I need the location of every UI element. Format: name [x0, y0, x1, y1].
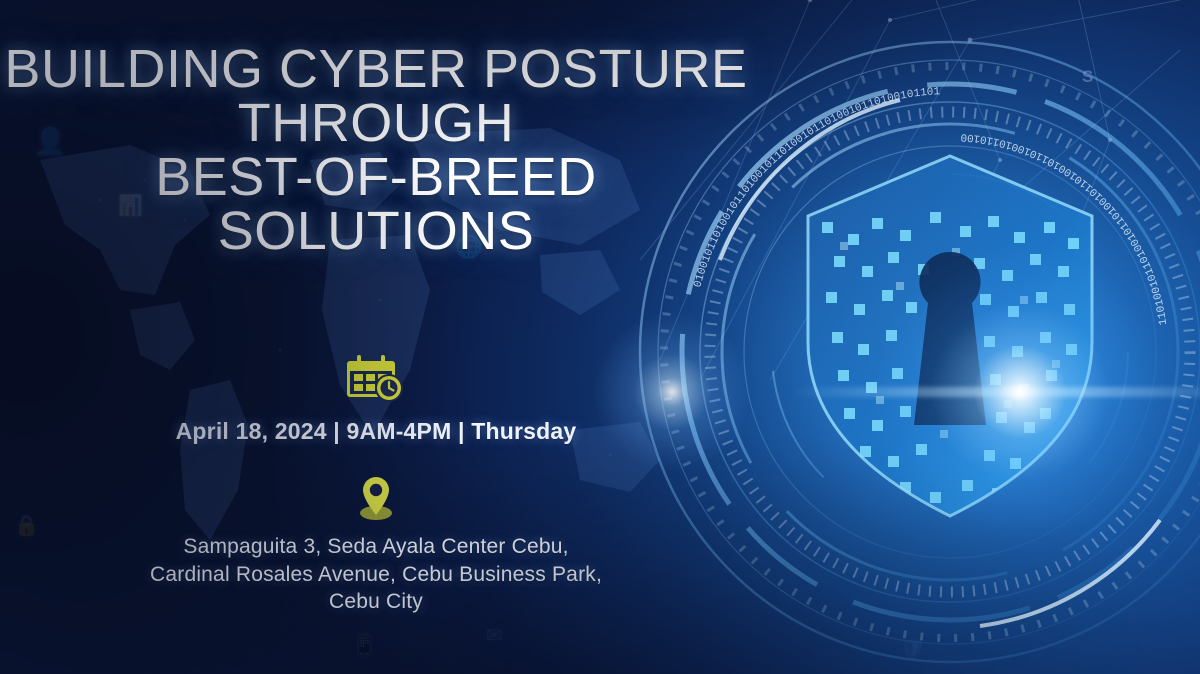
map-pin-icon: [0, 473, 752, 521]
event-banner: 👤 📊 🌐 🔒 📱 ✉ 🛡 E S: [0, 0, 1200, 674]
event-details: April 18, 2024 | 9AM-4PM | Thursday Samp…: [0, 352, 752, 616]
calendar-clock-icon: [0, 352, 752, 404]
page-title: BUILDING CYBER POSTURE THROUGH BEST-OF-B…: [0, 42, 752, 258]
event-date: April 18, 2024 | 9AM-4PM | Thursday: [0, 418, 752, 445]
event-address: Sampaguita 3, Seda Ayala Center Cebu, Ca…: [0, 533, 752, 616]
